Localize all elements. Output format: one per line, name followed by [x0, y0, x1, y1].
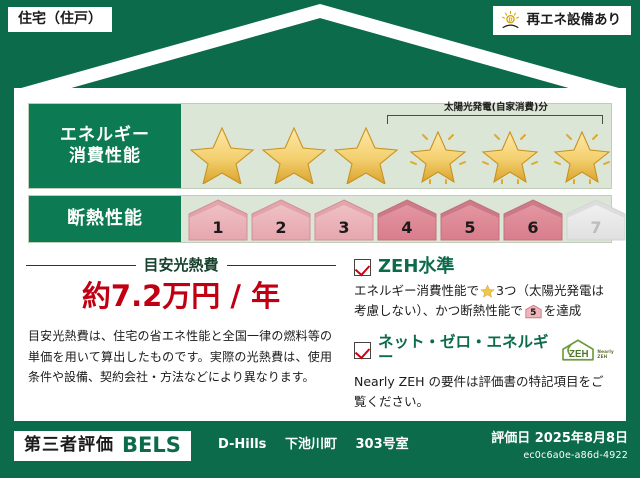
insulation-levels-area: 1 2 3 — [181, 196, 611, 242]
zeh-standard-text: エネルギー消費性能で3つ（太陽光発電は考慮しない）、かつ断熱性能で5を達成 — [354, 281, 614, 322]
address-town: 下池川町 — [285, 437, 337, 452]
net-zero-energy-text: Nearly ZEH の要件は評価書の特記項目をご覧ください。 — [354, 372, 614, 413]
label-footer: 第三者評価 BELS D-Hills 下池川町 303号室 評価日 2025年8… — [0, 420, 640, 478]
energy-performance-row: エネルギー 消費性能 太陽光発電(自家消費)分 — [28, 103, 612, 189]
net-zero-energy-item: ネット・ゼロ・エネルギー ZEH Nearly ZEH — [354, 335, 614, 366]
solar-generation-note: 太陽光発電(自家消費)分 — [387, 103, 605, 113]
subtitle: 建築物省エネ法に基づく — [0, 41, 640, 55]
zeh-logo-sub2: ZEH — [597, 354, 607, 359]
insulation-level-2: 2 — [250, 198, 312, 242]
house-icon-inline: 5 — [525, 304, 542, 319]
details-area: 目安光熱費 約7.2万円 / 年 目安光熱費は、住宅の省エネ性能と全国一律の燃料… — [26, 258, 614, 416]
room-number: 303号室 — [356, 437, 409, 452]
renewable-equipment-label: 再エネ設備あり — [527, 14, 622, 28]
insulation-level-number: 2 — [250, 220, 312, 236]
insulation-level-number: 1 — [187, 220, 249, 236]
insulation-label: 断熱性能 — [67, 208, 143, 231]
sun-icon: D — [500, 10, 521, 31]
insulation-performance-row: 断熱性能 — [28, 195, 612, 243]
insulation-level-7: 7 — [565, 198, 627, 242]
insulation-level-number: 3 — [313, 220, 375, 236]
evaluation-date: 評価日 2025年8月8日 — [491, 432, 628, 445]
insulation-scale: 1 2 3 — [187, 198, 627, 242]
checkbox-checked-icon — [354, 342, 371, 359]
insulation-level-6: 6 — [502, 198, 564, 242]
star-solar-icon — [403, 122, 473, 184]
page-title: 省エネ性能ラベル — [0, 58, 640, 88]
star-icon-inline — [480, 283, 495, 298]
utility-cost-section: 目安光熱費 約7.2万円 / 年 目安光熱費は、住宅の省エネ性能と全国一律の燃料… — [26, 258, 336, 416]
insulation-level-number: 7 — [565, 220, 627, 236]
energy-performance-label: 住宅（住戸） D 再エネ設備あり 建築物省エネ法に基づく 省エネ性能ラベル エネ… — [0, 0, 640, 478]
renewable-equipment-tag: D 再エネ設備あり — [493, 6, 632, 35]
insulation-level-number: 4 — [376, 220, 438, 236]
utility-cost-value: 約7.2万円 / 年 — [26, 282, 336, 311]
bels-en-label: BELS — [122, 435, 181, 456]
star-solar-icon — [475, 122, 545, 184]
svg-text:D: D — [508, 17, 512, 23]
zeh-text-a: エネルギー消費性能で — [354, 283, 479, 298]
zeh-house-logo-icon: ZEH — [560, 338, 596, 362]
rule-right — [227, 265, 337, 266]
star-icon — [331, 122, 401, 184]
energy-label-line2: 消費性能 — [69, 146, 141, 167]
insulation-level-1: 1 — [187, 198, 249, 242]
insulation-level-number: 5 — [439, 220, 501, 236]
zeh-standard-title: ZEH水準 — [378, 258, 454, 276]
checkbox-checked-icon — [354, 259, 371, 276]
house-icon-level: 5 — [525, 309, 542, 318]
utility-cost-description: 目安光熱費は、住宅の省エネ性能と全国一律の燃料等の単価を用いて算出したものです。… — [26, 326, 336, 388]
energy-label-line1: エネルギー — [60, 125, 150, 146]
house-type-label: 住宅（住戸） — [18, 11, 102, 27]
star-rating — [181, 122, 611, 184]
utility-cost-heading: 目安光熱費 — [26, 258, 336, 273]
bels-badge: 第三者評価 BELS — [14, 431, 191, 461]
zeh-logo: ZEH Nearly ZEH — [560, 338, 614, 362]
insulation-level-5: 5 — [439, 198, 501, 242]
svg-text:ZEH: ZEH — [569, 349, 589, 360]
insulation-level-4: 4 — [376, 198, 438, 242]
utility-cost-heading-text: 目安光熱費 — [144, 258, 219, 273]
energy-stars-area: 太陽光発電(自家消費)分 — [181, 104, 611, 188]
ratings-panel: エネルギー 消費性能 太陽光発電(自家消費)分 — [28, 103, 612, 253]
energy-performance-label-cell: エネルギー 消費性能 — [29, 104, 181, 188]
insulation-level-3: 3 — [313, 198, 375, 242]
insulation-level-number: 6 — [502, 220, 564, 236]
building-name: D-Hills — [218, 437, 266, 452]
house-type-tag: 住宅（住戸） — [8, 7, 112, 32]
bels-jp-label: 第三者評価 — [24, 437, 114, 454]
star-solar-icon — [547, 122, 617, 184]
zeh-section: ZEH水準 エネルギー消費性能で3つ（太陽光発電は考慮しない）、かつ断熱性能で5… — [336, 258, 614, 416]
zeh-standard-item: ZEH水準 — [354, 258, 614, 276]
rule-left — [26, 265, 136, 266]
evaluation-id: ec0c6a0e-a86d-4922 — [523, 451, 628, 461]
insulation-label-cell: 断熱性能 — [29, 196, 181, 242]
zeh-text-c: を達成 — [544, 303, 582, 318]
net-zero-energy-title: ネット・ゼロ・エネルギー — [378, 335, 549, 366]
star-icon — [187, 122, 257, 184]
star-icon — [259, 122, 329, 184]
zeh-logo-subtext: Nearly ZEH — [597, 350, 614, 360]
property-address: D-Hills 下池川町 303号室 — [218, 438, 423, 451]
